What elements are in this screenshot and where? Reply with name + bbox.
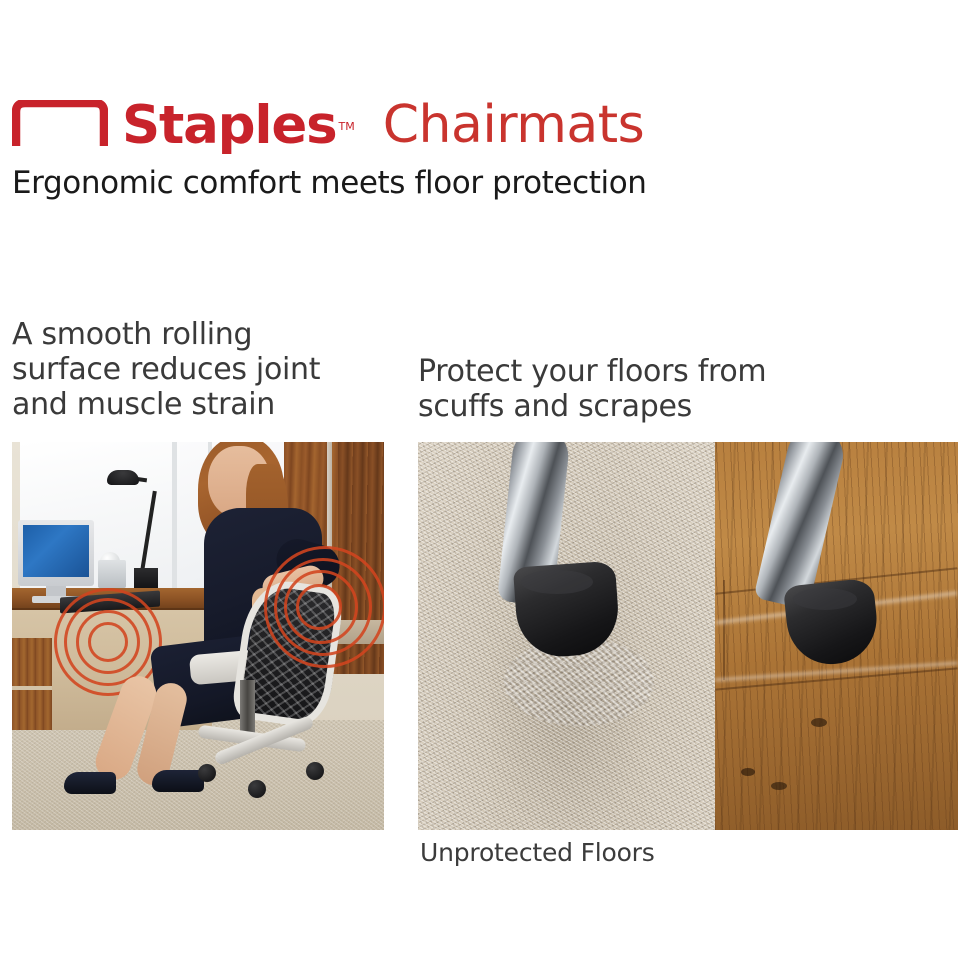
tagline: Ergonomic comfort meets floor protection [12,167,958,200]
desk-lamp-base [134,568,158,588]
photo-caster-on-hardwood [715,442,958,830]
chair-caster [198,764,216,782]
desk-drawer [12,638,52,730]
brand-name: StaplesTM [122,99,353,152]
desk-drawer-divider [12,686,52,690]
brand-name-text: Staples [122,95,336,156]
headline-floor-protection: Protect your floors from scuffs and scra… [418,355,958,425]
panel-floor-protection-text: Protect your floors from scuffs and scra… [418,355,958,425]
panel-ergonomics-text: A smooth rolling surface reduces joint a… [12,318,384,422]
pain-ripple-icon [264,546,384,668]
headline-ergonomics: A smooth rolling surface reduces joint a… [12,318,384,422]
person-shoe [152,770,204,792]
caption-unprotected-floors: Unprotected Floors [420,838,655,867]
chair-gas-cylinder [240,680,255,736]
floor-scuff-mark [811,718,827,727]
person-shoe [64,772,116,794]
brand-lockup: StaplesTM Chairmats [12,92,958,150]
photo-caster-on-carpet [418,442,715,830]
photo-office-ergonomics [12,442,384,830]
plank-seam [723,580,725,680]
pen-holder [98,560,126,588]
staple-mark-icon [12,100,108,146]
photo-unprotected-floors [418,442,958,830]
page-header: StaplesTM Chairmats Ergonomic comfort me… [12,92,958,200]
caster-wheel-rim [793,588,857,610]
desk-lamp-shade [107,470,139,485]
caster-wheel-rim [521,570,593,594]
floor-scuff-mark [741,768,755,776]
monitor-screen [23,525,89,577]
trademark-symbol: TM [338,120,354,133]
floor-scuff-mark [771,782,787,790]
chair-caster [306,762,324,780]
product-name: Chairmats [383,99,645,151]
chair-caster [248,780,266,798]
